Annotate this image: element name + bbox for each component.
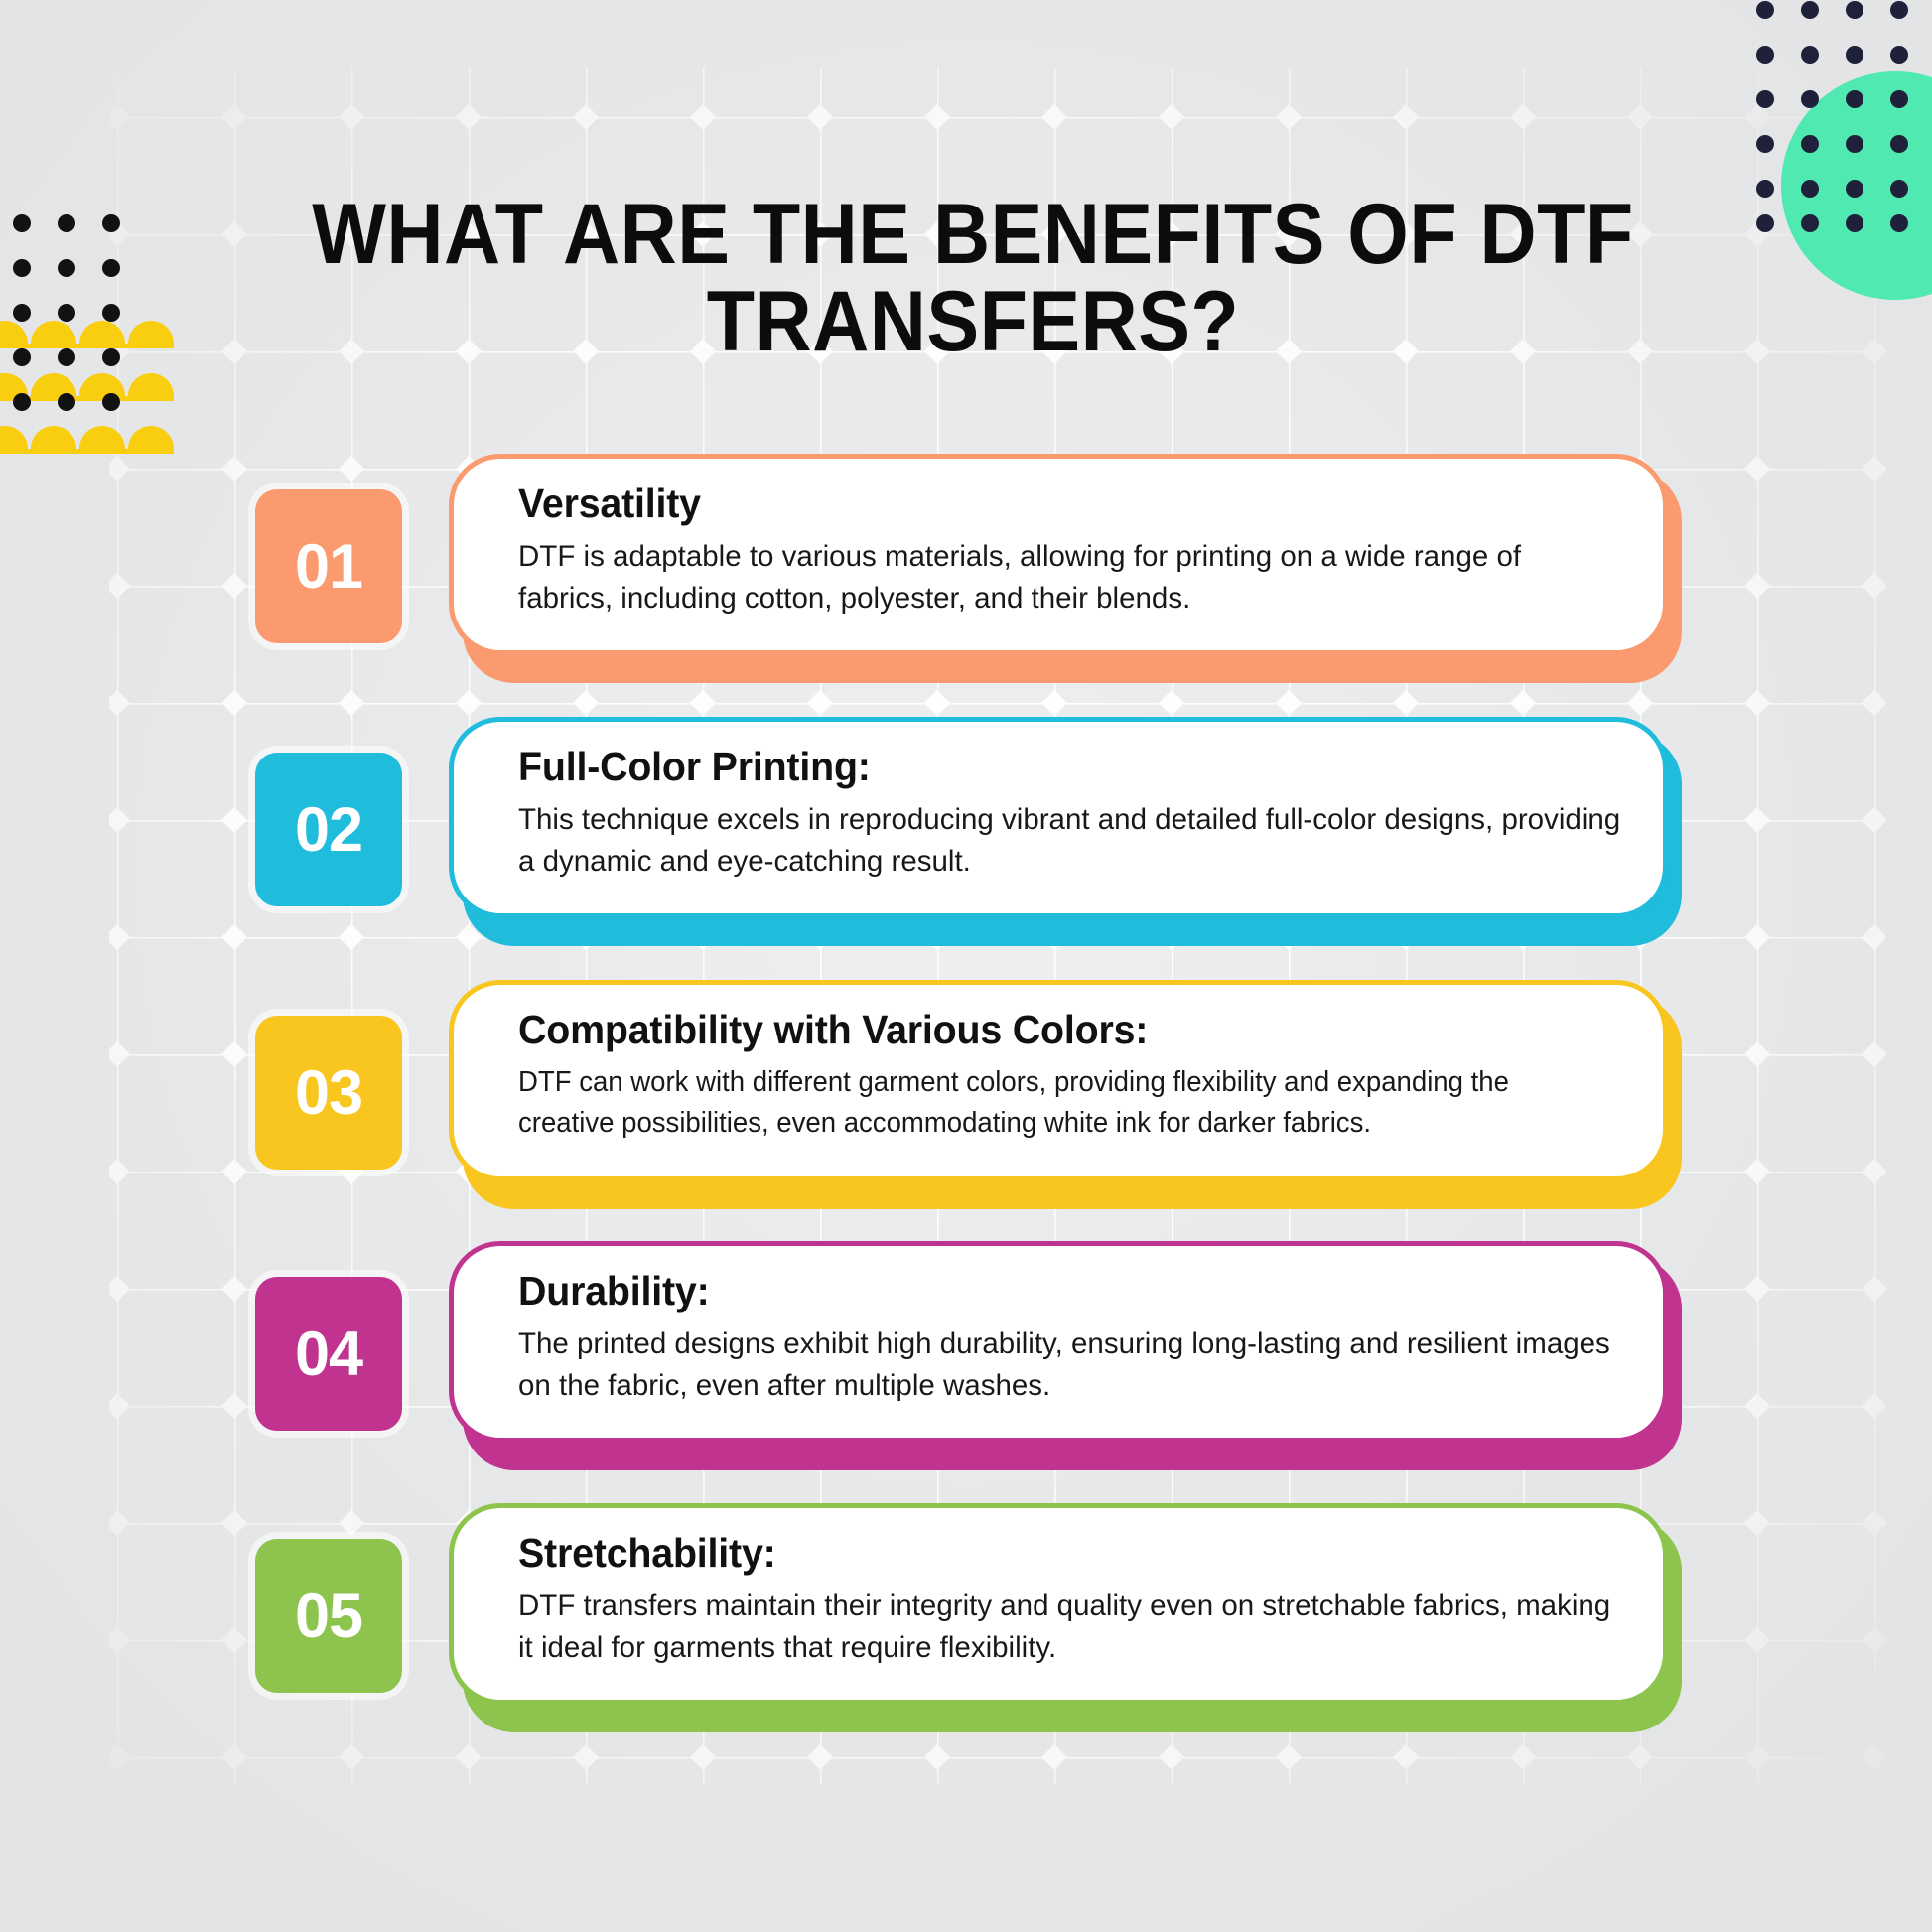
benefit-card-body: DTF is adaptable to various materials, a…	[518, 536, 1623, 620]
benefit-number-label: 03	[295, 1057, 362, 1129]
benefit-card-04[interactable]: Durability: The printed designs exhibit …	[449, 1241, 1668, 1443]
benefit-card-body: The printed designs exhibit high durabil…	[518, 1323, 1623, 1407]
benefit-card-title: Full-Color Printing:	[518, 744, 1579, 790]
benefit-card-title: Compatibility with Various Colors:	[518, 1007, 1579, 1053]
benefit-card-title: Durability:	[518, 1268, 1579, 1314]
benefit-row: 03 Compatibility with Various Colors: DT…	[0, 978, 1932, 1206]
benefit-number-label: 02	[295, 794, 362, 866]
benefit-card-02[interactable]: Full-Color Printing: This technique exce…	[449, 717, 1668, 918]
benefit-card-01[interactable]: Versatility DTF is adaptable to various …	[449, 454, 1668, 655]
benefit-number-badge-04: 04	[255, 1277, 402, 1431]
benefit-number-label: 01	[295, 531, 362, 603]
benefit-number-badge-05: 05	[255, 1539, 402, 1693]
benefit-number-label: 04	[295, 1318, 362, 1390]
benefit-card-05[interactable]: Stretchability: DTF transfers maintain t…	[449, 1503, 1668, 1705]
benefit-card-03[interactable]: Compatibility with Various Colors: DTF c…	[449, 980, 1668, 1181]
benefit-row: 05 Stretchability: DTF transfers maintai…	[0, 1501, 1932, 1729]
benefit-card-title: Stretchability:	[518, 1530, 1579, 1577]
benefit-number-badge-01: 01	[255, 489, 402, 643]
benefit-row: 04 Durability: The printed designs exhib…	[0, 1239, 1932, 1467]
benefit-card-title: Versatility	[518, 481, 1579, 527]
benefit-card-body: This technique excels in reproducing vib…	[518, 799, 1623, 883]
benefit-number-badge-02: 02	[255, 753, 402, 906]
benefit-row: 01 Versatility DTF is adaptable to vario…	[0, 452, 1932, 680]
benefit-card-body: DTF can work with different garment colo…	[518, 1062, 1568, 1144]
benefit-number-label: 05	[295, 1581, 362, 1652]
page-title: WHAT ARE THE BENEFITS OF DTF TRANSFERS?	[297, 192, 1649, 365]
benefit-row: 02 Full-Color Printing: This technique e…	[0, 715, 1932, 943]
benefit-number-badge-03: 03	[255, 1016, 402, 1170]
benefit-card-body: DTF transfers maintain their integrity a…	[518, 1586, 1623, 1669]
